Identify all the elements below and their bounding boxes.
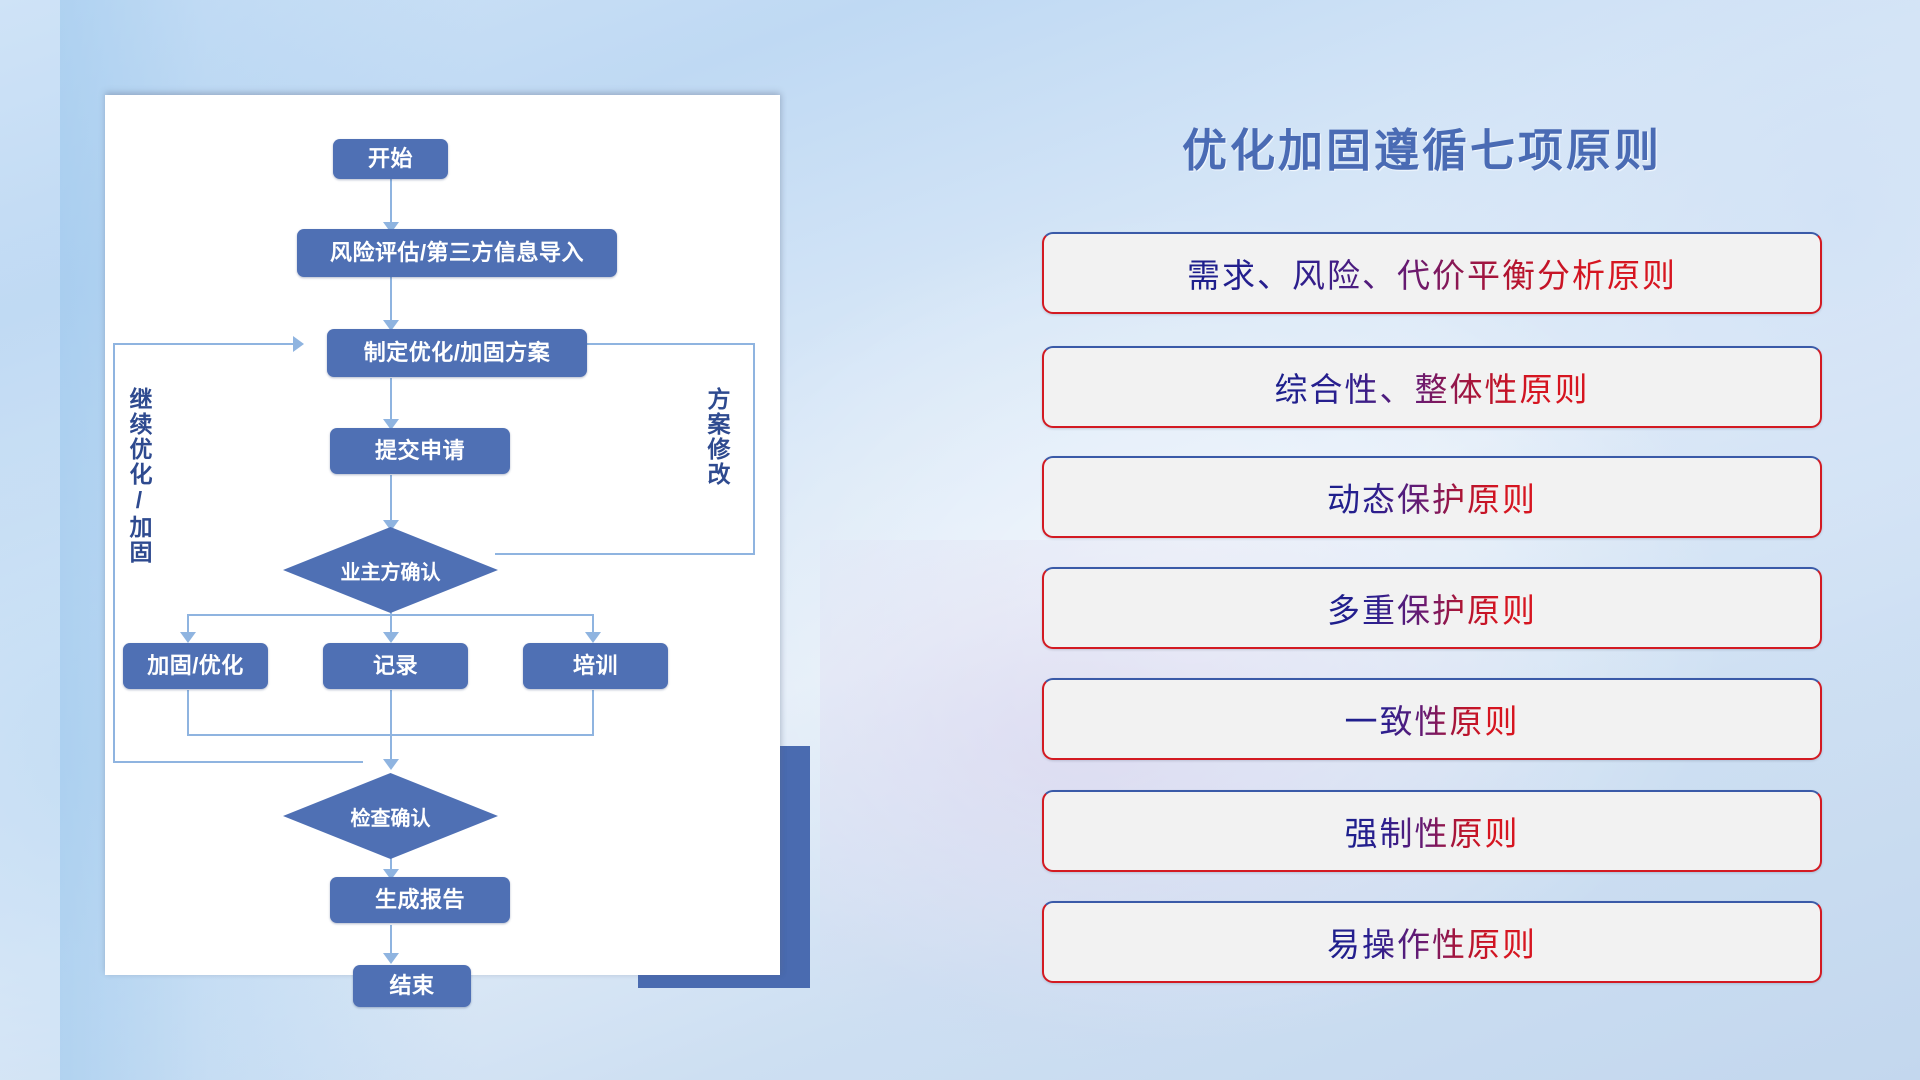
arrowhead-report-to-end <box>383 953 399 964</box>
panel-title: 优化加固遵循七项原则 <box>1022 114 1822 179</box>
flow-node-end-label: 结束 <box>389 973 434 998</box>
flow-node-start-label: 开始 <box>368 146 413 171</box>
flow-node-make-plan-label: 制定优化/加固方案 <box>364 340 551 365</box>
connector-merge-to-check <box>390 690 392 766</box>
flow-node-owner-confirm-label: 业主方确认 <box>341 556 441 585</box>
principle-item-2[interactable]: 综合性、整体性原则 <box>1042 346 1822 428</box>
flowchart-card: 开始 风险评估/第三方信息导入 制定优化/加固方案 提交申请 业主方确认 加固/… <box>105 95 780 975</box>
connector-left-loop-top <box>113 343 296 345</box>
flow-node-generate-report-label: 生成报告 <box>375 887 465 912</box>
connector-right-loop-from-owner <box>495 553 755 555</box>
principle-item-1[interactable]: 需求、风险、代价平衡分析原则 <box>1042 232 1822 314</box>
arrowhead-left-loop-to-plan <box>293 336 304 352</box>
arrowhead-branch-right <box>585 632 601 643</box>
arrowhead-branch-left <box>180 632 196 643</box>
principle-item-1-label: 需求、风险、代价平衡分析原则 <box>1187 249 1677 297</box>
flow-node-reinforce-optimize-label: 加固/优化 <box>147 653 244 678</box>
flow-node-risk-assessment-label: 风险评估/第三方信息导入 <box>330 240 584 265</box>
flow-node-training-label: 培训 <box>573 653 618 678</box>
principle-item-2-label: 综合性、整体性原则 <box>1275 363 1590 411</box>
flow-node-start[interactable]: 开始 <box>333 139 448 179</box>
principle-item-6[interactable]: 强制性原则 <box>1042 790 1822 872</box>
principle-item-4[interactable]: 多重保护原则 <box>1042 567 1822 649</box>
edge-label-continue-optimize: 继续优化/加固 <box>127 387 150 565</box>
connector-left-loop-vertical <box>113 343 115 763</box>
flow-node-check-confirm-label: 检查确认 <box>351 802 431 831</box>
connector-left-loop-bottom <box>113 761 363 763</box>
principles-panel: 优化加固遵循七项原则 需求、风险、代价平衡分析原则 综合性、整体性原则 动态保护… <box>1022 100 1822 1000</box>
principle-item-4-label: 多重保护原则 <box>1327 584 1537 632</box>
flow-node-reinforce-optimize[interactable]: 加固/优化 <box>123 643 268 689</box>
arrowhead-branch-mid <box>383 632 399 643</box>
flow-node-submit-application-label: 提交申请 <box>375 438 465 463</box>
flow-node-record-label: 记录 <box>373 653 418 678</box>
principle-item-7[interactable]: 易操作性原则 <box>1042 901 1822 983</box>
connector-merge-left <box>187 690 189 736</box>
edge-label-plan-revision: 方案修改 <box>705 387 728 487</box>
connector-merge-right <box>592 690 594 736</box>
flow-node-training[interactable]: 培训 <box>523 643 668 689</box>
flow-node-record[interactable]: 记录 <box>323 643 468 689</box>
flow-node-check-confirm[interactable]: 检查确认 <box>283 773 498 859</box>
arrowhead-merge-to-check <box>383 759 399 770</box>
flow-node-owner-confirm[interactable]: 业主方确认 <box>283 527 498 613</box>
flow-node-make-plan[interactable]: 制定优化/加固方案 <box>327 329 587 377</box>
slide-canvas: 开始 风险评估/第三方信息导入 制定优化/加固方案 提交申请 业主方确认 加固/… <box>0 0 1920 1080</box>
flow-node-submit-application[interactable]: 提交申请 <box>330 428 510 474</box>
principle-item-3[interactable]: 动态保护原则 <box>1042 456 1822 538</box>
principle-item-7-label: 易操作性原则 <box>1327 918 1537 966</box>
flow-node-end[interactable]: 结束 <box>353 965 471 1007</box>
principle-item-5[interactable]: 一致性原则 <box>1042 678 1822 760</box>
flow-node-risk-assessment[interactable]: 风险评估/第三方信息导入 <box>297 229 617 277</box>
principle-item-5-label: 一致性原则 <box>1345 695 1520 743</box>
flow-node-generate-report[interactable]: 生成报告 <box>330 877 510 923</box>
principle-item-3-label: 动态保护原则 <box>1327 473 1537 521</box>
principle-item-6-label: 强制性原则 <box>1345 807 1520 855</box>
connector-right-loop-vertical <box>753 343 755 555</box>
